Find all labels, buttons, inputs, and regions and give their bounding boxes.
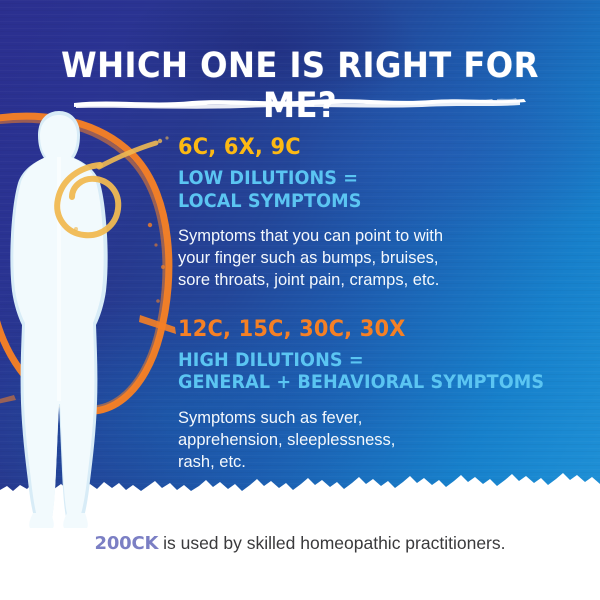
section-low-dilutions: 6C, 6X, 9C LOW DILUTIONS = LOCAL SYMPTOM… [178, 136, 576, 292]
potency-label-low: 6C, 6X, 9C [178, 136, 556, 159]
dilution-heading-high: HIGH DILUTIONS = GENERAL + BEHAVIORAL SY… [178, 350, 556, 395]
description-low: Symptoms that you can point to with your… [178, 225, 576, 291]
footer-note: 200CK is used by skilled homeopathic pra… [0, 533, 600, 554]
content-column: 6C, 6X, 9C LOW DILUTIONS = LOCAL SYMPTOM… [178, 136, 576, 473]
dilution-heading-low: LOW DILUTIONS = LOCAL SYMPTOMS [178, 168, 556, 213]
infographic-root: WHICH ONE IS RIGHT FOR ME? [0, 0, 600, 600]
footer-potency-label: 200CK [95, 533, 159, 554]
footer-text: is used by skilled homeopathic practitio… [158, 533, 505, 553]
page-title: WHICH ONE IS RIGHT FOR ME? [24, 46, 576, 126]
section-high-dilutions: 12C, 15C, 30C, 30X HIGH DILUTIONS = GENE… [178, 318, 576, 474]
potency-label-high: 12C, 15C, 30C, 30X [178, 318, 556, 341]
description-high: Symptoms such as fever, apprehension, sl… [178, 407, 576, 473]
